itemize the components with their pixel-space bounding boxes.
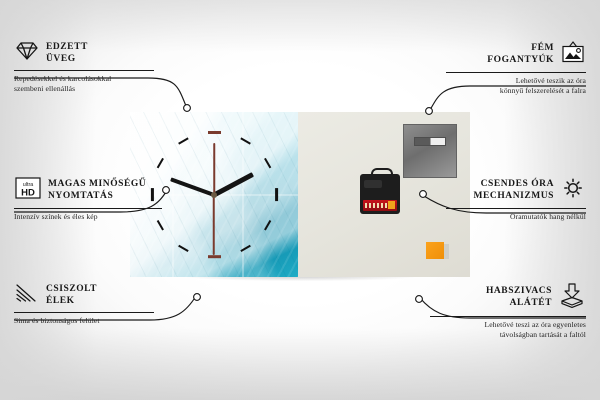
feature-desc-line1: Sima és biztonságos felület (14, 316, 154, 326)
feature-silent-mechanism[interactable]: CSENDES ÓRA MECHANIZMUS Óramutatók hang … (446, 176, 586, 222)
feature-divider (14, 208, 162, 209)
product-image (130, 112, 470, 277)
feature-high-quality-print[interactable]: ultra HD MAGAS MINŐSÉGŰ NYOMTATÁS Intenz… (14, 176, 162, 222)
feature-title-line2: ÉLEK (46, 296, 97, 308)
feature-desc-line2: távolságban tartását a faltól (430, 330, 586, 340)
feature-title-line1: EDZETT (46, 42, 88, 54)
feature-title-line2: FOGANTYÚK (487, 55, 554, 67)
clock-tick (208, 131, 221, 134)
feature-desc-line1: Repedésekkel és karcolásokkal (14, 74, 154, 84)
feature-title-line1: MAGAS MINŐSÉGŰ (48, 179, 146, 191)
polished-edges-icon (14, 282, 40, 309)
battery-label (365, 203, 387, 208)
feature-title-line2: ALÁTÉT (486, 298, 552, 310)
feature-heading: ultra HD MAGAS MINŐSÉGŰ NYOMTATÁS (14, 176, 162, 205)
feature-title-line1: CSISZOLT (46, 284, 97, 296)
svg-text:HD: HD (21, 188, 35, 199)
feature-desc-line1: Intenzív színek és éles kép (14, 212, 162, 222)
foam-pad-icon (558, 282, 586, 313)
feature-heading: FÉM FOGANTYÚK (446, 40, 586, 69)
feature-title-line1: HABSZIVACS (486, 286, 552, 298)
clock-back-view (298, 112, 470, 277)
product-shadow (132, 276, 470, 288)
hanger-slot (414, 137, 446, 146)
feature-title-line2: MECHANIZMUS (474, 191, 554, 203)
clock-tick (274, 188, 277, 201)
feature-title-line2: NYOMTATÁS (48, 191, 146, 203)
feature-desc-line1: Óramutatók hang nélkül (446, 212, 586, 222)
feature-polished-edges[interactable]: CSISZOLT ÉLEK Sima és biztonságos felüle… (14, 282, 154, 326)
feature-heading: CSENDES ÓRA MECHANIZMUS (446, 176, 586, 205)
feature-divider (430, 316, 586, 317)
feature-foam-pad[interactable]: HABSZIVACS ALÁTÉT Lehetővé teszi az óra … (430, 282, 586, 339)
clock-mechanism (360, 174, 400, 214)
gear-icon (560, 176, 586, 205)
clock-hand-second-tail (213, 143, 215, 195)
feature-tempered-glass[interactable]: EDZETT ÜVEG Repedésekkel és karcolásokka… (14, 40, 154, 93)
feature-divider (446, 72, 586, 73)
picture-hanger-icon (560, 40, 586, 69)
feature-desc-line2: könnyű felszerelését a falra (446, 86, 586, 96)
feature-heading: EDZETT ÜVEG (14, 40, 154, 67)
feature-title-line1: CSENDES ÓRA (474, 179, 554, 191)
feature-title-line2: ÜVEG (46, 54, 88, 66)
clock-center-hub (211, 192, 217, 198)
foam-pad-side (444, 244, 449, 259)
infographic-canvas: EDZETT ÜVEG Repedésekkel és karcolásokka… (0, 0, 600, 400)
feature-desc-line1: Lehetővé teszik az óra (446, 76, 586, 86)
feature-metal-handles[interactable]: FÉM FOGANTYÚK Lehetővé teszik az óra kön… (446, 40, 586, 95)
feature-title-line1: FÉM (487, 43, 554, 55)
battery (363, 200, 397, 211)
battery-plus-terminal (388, 201, 395, 209)
feature-heading: HABSZIVACS ALÁTÉT (430, 282, 586, 313)
feature-desc-line1: Lehetővé teszi az óra egyenletes (430, 320, 586, 330)
mechanism-handle (371, 168, 393, 179)
clock-tick (208, 255, 221, 258)
feature-heading: CSISZOLT ÉLEK (14, 282, 154, 309)
clock-hand-second (213, 195, 215, 255)
mechanism-top-panel (364, 180, 382, 188)
diamond-icon (14, 40, 40, 67)
foam-pad (426, 242, 444, 259)
metal-hanger-plate (403, 124, 457, 178)
feature-divider (446, 208, 586, 209)
feature-divider (14, 70, 154, 71)
feature-desc-line2: szembeni ellenállás (14, 84, 154, 94)
ultra-hd-icon: ultra HD (14, 176, 42, 205)
feature-divider (14, 312, 154, 313)
